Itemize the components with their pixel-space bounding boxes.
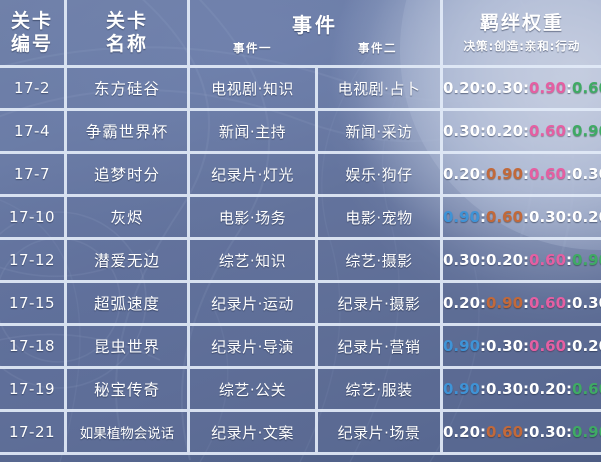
cell-event-one: 纪录片·导演 xyxy=(190,326,318,369)
header-row: 关卡 编号 关卡 名称 事件 事件一 事件二 羁绊权重 决策:创造:亲和:行动 xyxy=(0,0,601,68)
weight-value-亲和: 0.60 xyxy=(529,337,566,355)
weight-value-创造: 0.20 xyxy=(486,122,523,140)
cell-event-two: 娱乐·狗仔 xyxy=(318,154,443,197)
cell-event-one: 综艺·知识 xyxy=(190,240,318,283)
cell-bond-weight: 0.20:0.30:0.90:0.60 xyxy=(443,68,601,111)
weight-value-亲和: 0.60 xyxy=(529,294,566,312)
weight-value-行动: 0.30 xyxy=(572,294,601,312)
cell-bond-weight: 0.20:0.60:0.30:0.90 xyxy=(443,412,601,455)
cell-level-name: 追梦时分 xyxy=(67,154,190,197)
cell-level-id: 17-19 xyxy=(0,369,67,412)
weight-value-亲和: 0.30 xyxy=(529,208,566,226)
weight-value-行动: 0.20 xyxy=(572,208,601,226)
weight-value-行动: 0.90 xyxy=(572,251,601,269)
weight-value-行动: 0.60 xyxy=(572,79,601,97)
cell-level-id: 17-4 xyxy=(0,111,67,154)
cell-event-two: 纪录片·场景 xyxy=(318,412,443,455)
cell-level-id: 17-21 xyxy=(0,412,67,455)
cell-event-one: 纪录片·灯光 xyxy=(190,154,318,197)
weight-value-行动: 0.90 xyxy=(572,122,601,140)
table-row[interactable]: 17-2东方硅谷电视剧·知识电视剧·占卜0.20:0.30:0.90:0.60 xyxy=(0,68,601,111)
header-events-subrow: 事件一 事件二 xyxy=(190,40,440,56)
header-level-name-line1: 关卡 xyxy=(67,10,187,33)
weight-value-创造: 0.60 xyxy=(486,423,523,441)
cell-event-two: 纪录片·摄影 xyxy=(318,283,443,326)
table-row[interactable]: 17-21如果植物会说话纪录片·文案纪录片·场景0.20:0.60:0.30:0… xyxy=(0,412,601,455)
table-row[interactable]: 17-7追梦时分纪录片·灯光娱乐·狗仔0.20:0.90:0.60:0.30 xyxy=(0,154,601,197)
weight-value-亲和: 0.30 xyxy=(529,423,566,441)
level-bond-weight-table-panel: 关卡 编号 关卡 名称 事件 事件一 事件二 羁绊权重 决策:创造:亲和:行动 xyxy=(0,0,601,462)
table-row[interactable]: 17-19秘宝传奇综艺·公关综艺·服装0.90:0.30:0.20:0.60 xyxy=(0,369,601,412)
cell-level-id: 17-15 xyxy=(0,283,67,326)
cell-event-one: 综艺·公关 xyxy=(190,369,318,412)
cell-level-name: 超弧速度 xyxy=(67,283,190,326)
weight-value-决策: 0.90 xyxy=(443,380,480,398)
cell-event-one: 电视剧·知识 xyxy=(190,68,318,111)
weight-value-行动: 0.30 xyxy=(572,165,601,183)
cell-level-name: 潜爱无边 xyxy=(67,240,190,283)
header-events-title: 事件 xyxy=(190,9,440,38)
header-event-two: 事件二 xyxy=(315,40,440,56)
weight-value-决策: 0.30 xyxy=(443,251,480,269)
cell-event-two: 电视剧·占卜 xyxy=(318,68,443,111)
cell-bond-weight: 0.30:0.20:0.60:0.90 xyxy=(443,111,601,154)
cell-level-id: 17-12 xyxy=(0,240,67,283)
cell-level-id: 17-2 xyxy=(0,68,67,111)
cell-bond-weight: 0.90:0.60:0.30:0.20 xyxy=(443,197,601,240)
header-level-name-line2: 名称 xyxy=(67,33,187,56)
table-row[interactable]: 17-4争霸世界杯新闻·主持新闻·采访0.30:0.20:0.60:0.90 xyxy=(0,111,601,154)
header-event-one: 事件一 xyxy=(190,40,315,56)
weight-value-创造: 0.60 xyxy=(486,208,523,226)
cell-level-name: 东方硅谷 xyxy=(67,68,190,111)
weight-value-创造: 0.30 xyxy=(486,79,523,97)
weight-value-亲和: 0.60 xyxy=(529,165,566,183)
weight-value-创造: 0.30 xyxy=(486,380,523,398)
level-table: 关卡 编号 关卡 名称 事件 事件一 事件二 羁绊权重 决策:创造:亲和:行动 xyxy=(0,0,601,455)
header-bond-weight: 羁绊权重 决策:创造:亲和:行动 xyxy=(443,0,601,68)
table-row[interactable]: 17-18昆虫世界纪录片·导演纪录片·营销0.90:0.30:0.60:0.20 xyxy=(0,326,601,369)
weight-value-创造: 0.30 xyxy=(486,337,523,355)
header-level-name: 关卡 名称 xyxy=(67,0,190,68)
weight-value-行动: 0.90 xyxy=(572,423,601,441)
header-level-id-line2: 编号 xyxy=(0,33,64,56)
cell-level-id: 17-10 xyxy=(0,197,67,240)
header-bond-weight-title: 羁绊权重 xyxy=(443,12,601,35)
table-row[interactable]: 17-15超弧速度纪录片·运动纪录片·摄影0.20:0.90:0.60:0.30 xyxy=(0,283,601,326)
table-row[interactable]: 17-10灰烬电影·场务电影·宠物0.90:0.60:0.30:0.20 xyxy=(0,197,601,240)
cell-event-two: 新闻·采访 xyxy=(318,111,443,154)
weight-value-创造: 0.90 xyxy=(486,165,523,183)
cell-event-one: 电影·场务 xyxy=(190,197,318,240)
cell-event-two: 综艺·服装 xyxy=(318,369,443,412)
weight-value-决策: 0.20 xyxy=(443,423,480,441)
cell-level-id: 17-7 xyxy=(0,154,67,197)
cell-bond-weight: 0.90:0.30:0.60:0.20 xyxy=(443,326,601,369)
cell-bond-weight: 0.20:0.90:0.60:0.30 xyxy=(443,283,601,326)
cell-level-name: 争霸世界杯 xyxy=(67,111,190,154)
weight-value-亲和: 0.90 xyxy=(529,79,566,97)
header-level-id-line1: 关卡 xyxy=(0,10,64,33)
weight-value-决策: 0.90 xyxy=(443,208,480,226)
header-bond-weight-sub: 决策:创造:亲和:行动 xyxy=(443,38,601,54)
header-events-group: 事件 事件一 事件二 xyxy=(190,0,443,68)
cell-bond-weight: 0.90:0.30:0.20:0.60 xyxy=(443,369,601,412)
cell-event-two: 综艺·摄影 xyxy=(318,240,443,283)
weight-value-决策: 0.90 xyxy=(443,337,480,355)
cell-event-one: 纪录片·运动 xyxy=(190,283,318,326)
weight-value-行动: 0.60 xyxy=(572,380,601,398)
weight-value-亲和: 0.60 xyxy=(529,251,566,269)
table-header: 关卡 编号 关卡 名称 事件 事件一 事件二 羁绊权重 决策:创造:亲和:行动 xyxy=(0,0,601,68)
cell-event-two: 纪录片·营销 xyxy=(318,326,443,369)
cell-level-name: 秘宝传奇 xyxy=(67,369,190,412)
cell-level-name: 灰烬 xyxy=(67,197,190,240)
cell-level-name: 如果植物会说话 xyxy=(67,412,190,455)
table-body: 17-2东方硅谷电视剧·知识电视剧·占卜0.20:0.30:0.90:0.601… xyxy=(0,68,601,455)
weight-value-创造: 0.20 xyxy=(486,251,523,269)
cell-level-name: 昆虫世界 xyxy=(67,326,190,369)
weight-value-行动: 0.20 xyxy=(572,337,601,355)
weight-value-决策: 0.30 xyxy=(443,122,480,140)
cell-bond-weight: 0.20:0.90:0.60:0.30 xyxy=(443,154,601,197)
weight-value-决策: 0.20 xyxy=(443,165,480,183)
weight-value-决策: 0.20 xyxy=(443,79,480,97)
weight-value-创造: 0.90 xyxy=(486,294,523,312)
cell-event-one: 纪录片·文案 xyxy=(190,412,318,455)
cell-event-two: 电影·宠物 xyxy=(318,197,443,240)
header-level-id: 关卡 编号 xyxy=(0,0,67,68)
weight-value-决策: 0.20 xyxy=(443,294,480,312)
weight-value-亲和: 0.60 xyxy=(529,122,566,140)
cell-level-id: 17-18 xyxy=(0,326,67,369)
table-row[interactable]: 17-12潜爱无边综艺·知识综艺·摄影0.30:0.20:0.60:0.90 xyxy=(0,240,601,283)
cell-bond-weight: 0.30:0.20:0.60:0.90 xyxy=(443,240,601,283)
weight-value-亲和: 0.20 xyxy=(529,380,566,398)
cell-event-one: 新闻·主持 xyxy=(190,111,318,154)
